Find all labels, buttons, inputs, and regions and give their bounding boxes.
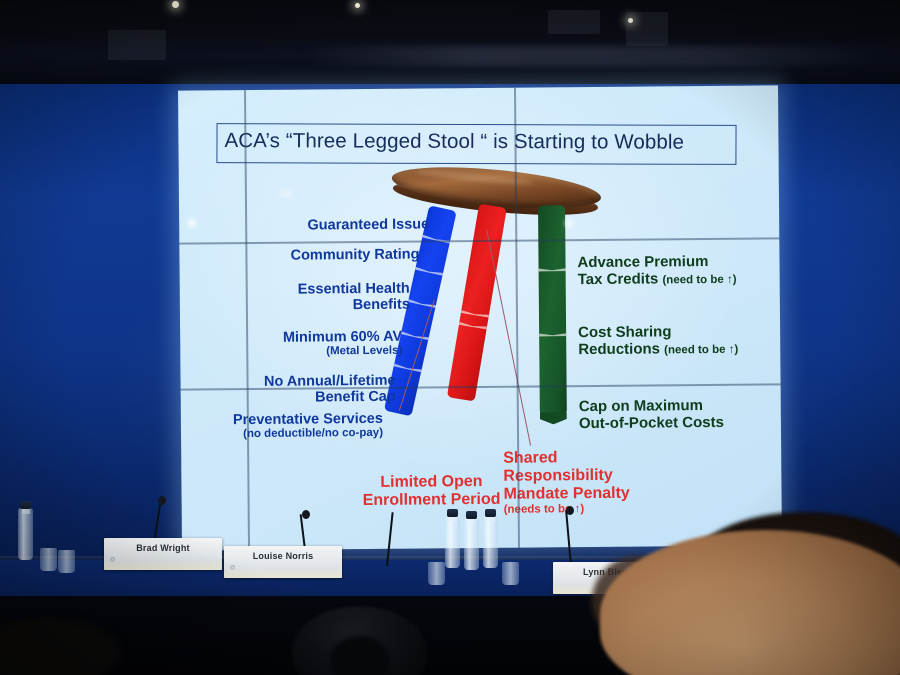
green-leg-foot (540, 412, 567, 424)
label-text: Community Rating (290, 247, 419, 264)
name-placard-brad-wright: Brad Wright @ (104, 538, 222, 570)
slide-content: ACA’s “Three Legged Stool “ is Starting … (178, 85, 782, 550)
label-line2: Reductions (need to be ↑) (578, 340, 782, 359)
label-sub: (needs to be ↑) (504, 502, 694, 517)
label-essential-health-benefits: Essential Health Benefits (180, 281, 410, 315)
label-minimum-60-av: Minimum 60% AV (Metal Levels) (180, 329, 402, 360)
label-line2: Tax Credits (need to be ↑) (578, 270, 778, 289)
label-text-2: Enrollment Period (347, 491, 517, 510)
red-leg (447, 204, 507, 402)
water-bottle (483, 516, 498, 568)
presentation-screen: ACA’s “Three Legged Stool “ is Starting … (178, 85, 782, 550)
ceiling-rig (548, 10, 600, 34)
label-sub: (Metal Levels) (180, 345, 402, 360)
label-cap-on-maximum-oop: Cap on Maximum Out-of-Pocket Costs (579, 397, 782, 432)
placard-gloss (224, 567, 342, 578)
red-leg-body (447, 204, 507, 402)
ceiling-rig (108, 30, 166, 60)
label-text-2: Tax Credits (578, 270, 659, 288)
drinking-glass (58, 550, 75, 573)
label-text: Advance Premium (577, 253, 777, 272)
label-text: Cost Sharing (578, 323, 782, 342)
label-text: Shared (503, 448, 693, 468)
label-text-2: Out-of-Pocket Costs (579, 414, 782, 433)
label-line3: Mandate Penalty (503, 484, 693, 504)
label-text-2: Benefit Cap (181, 389, 396, 407)
label-text-2: Reductions (578, 340, 660, 358)
label-sub: (no deductible/no co-pay) (178, 427, 383, 442)
water-bottle (464, 518, 479, 570)
drinking-glass (428, 562, 445, 585)
label-text-2: Benefits (180, 297, 410, 315)
conference-room-photo: ACA’s “Three Legged Stool “ is Starting … (0, 0, 900, 675)
green-leg (538, 205, 567, 415)
bottle-cap (485, 509, 496, 517)
ceiling-light (355, 3, 360, 8)
label-sub: (need to be ↑) (664, 344, 738, 357)
green-leg-body (538, 205, 567, 415)
label-community-rating: Community Rating (189, 247, 419, 265)
label-guaranteed-issue: Guaranteed Issue (199, 216, 429, 234)
microphone-head (158, 496, 166, 505)
ceiling-truss (300, 46, 880, 66)
label-advance-premium-tax-credits: Advance Premium Tax Credits (need to be … (577, 253, 777, 288)
bottle-cap (466, 511, 477, 519)
water-bottle (445, 516, 460, 568)
microphone-head (302, 510, 310, 519)
label-text-3: Mandate Penalty (503, 485, 629, 503)
label-text: Preventative Services (178, 411, 383, 429)
ceiling-light (172, 1, 179, 8)
label-shared-responsibility-mandate: Shared Responsibility Mandate Penalty (n… (503, 448, 694, 516)
bottle-cap (447, 509, 458, 517)
placard-name-text: Brad Wright (104, 543, 222, 553)
label-text: Minimum 60% AV (180, 329, 402, 347)
ceiling (0, 0, 900, 90)
label-sub: (need to be ↑) (662, 274, 736, 287)
drinking-glass (502, 562, 519, 585)
microphone-head (566, 506, 574, 515)
label-text-2: Responsibility (503, 466, 693, 486)
label-text: Essential Health (180, 281, 410, 299)
leader-line-mandate (486, 230, 531, 446)
label-limited-open-enrollment: Limited Open Enrollment Period (346, 473, 516, 510)
slide-title: ACA’s “Three Legged Stool “ is Starting … (224, 129, 744, 155)
placard-gloss (104, 559, 222, 570)
name-placard-louise-norris: Louise Norris @ (224, 546, 342, 578)
screen-hotspot (565, 219, 573, 227)
water-bottle (18, 508, 33, 560)
label-cost-sharing-reductions: Cost Sharing Reductions (need to be ↑) (578, 323, 782, 358)
screen-hotspot (187, 218, 196, 227)
bottle-cap (20, 501, 31, 509)
label-preventative-services: Preventative Services (no deductible/no … (178, 411, 383, 442)
label-text: Limited Open (346, 473, 516, 492)
drinking-glass (40, 548, 57, 571)
label-text: Guaranteed Issue (307, 216, 429, 233)
ceiling-rig (626, 12, 668, 46)
placard-name-text: Louise Norris (224, 551, 342, 561)
label-text: Cap on Maximum (579, 397, 782, 416)
